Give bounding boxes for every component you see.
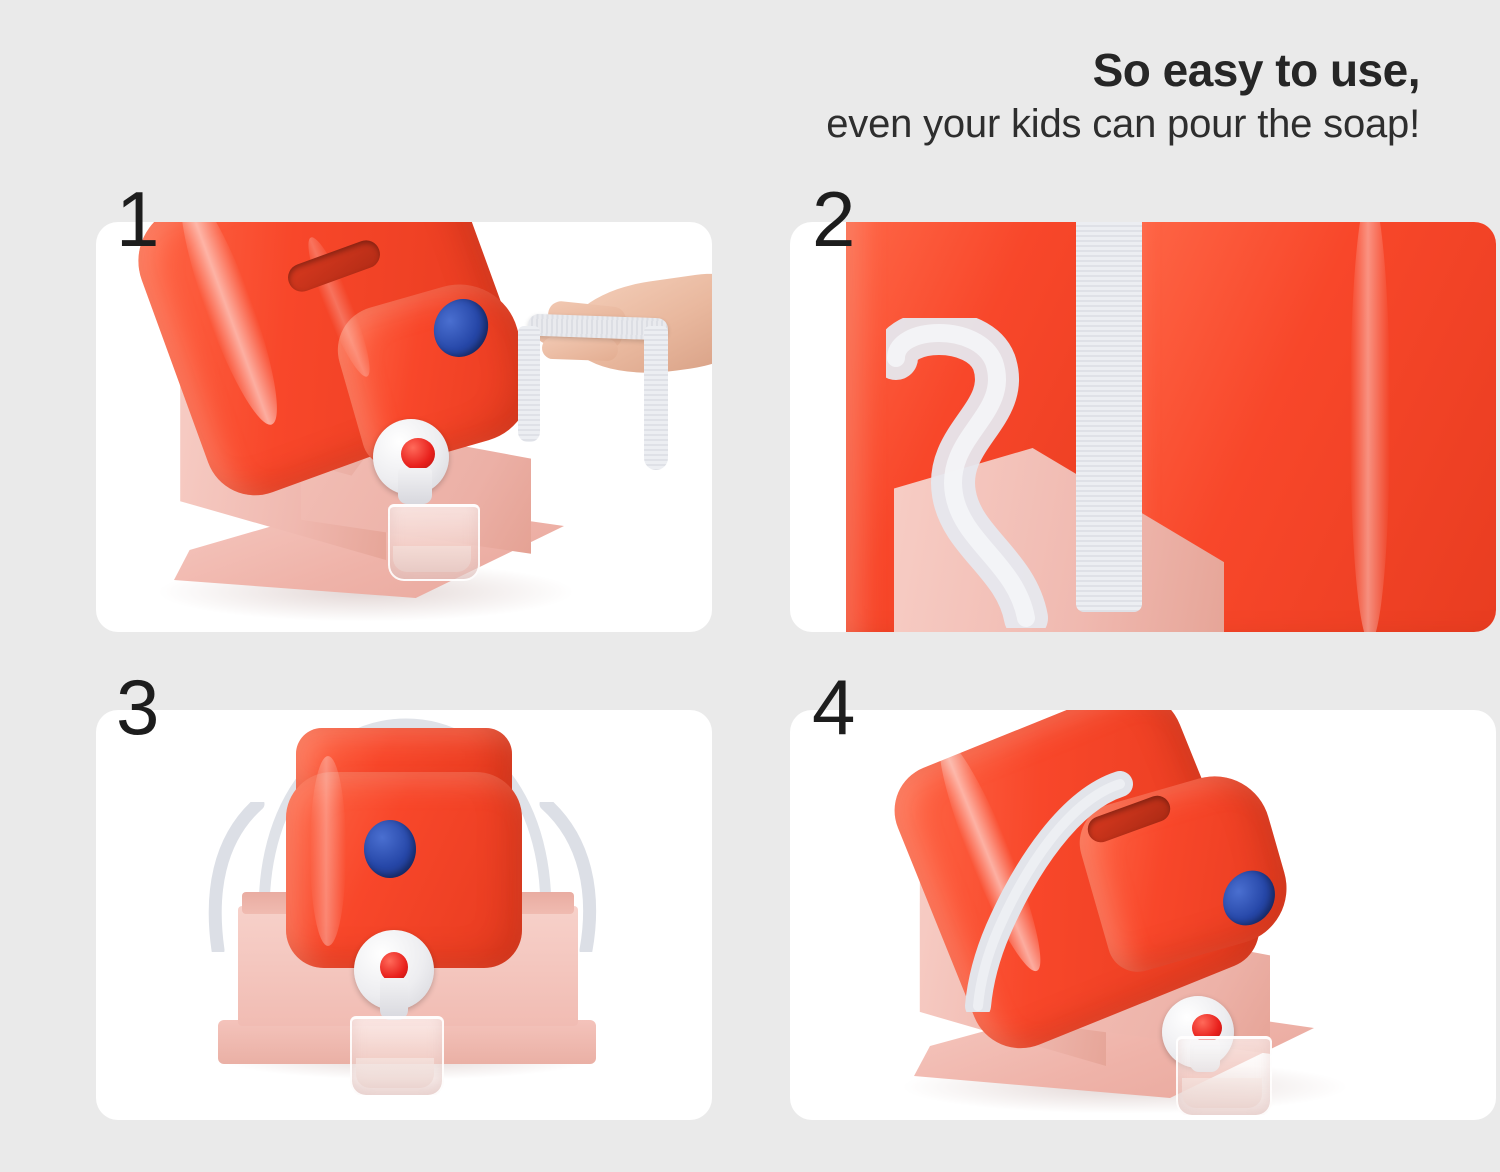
steps-grid [96, 222, 1400, 1120]
spigot-stem [380, 978, 408, 1020]
spigot-stem [398, 468, 432, 504]
velcro-strap-loop [886, 318, 1106, 628]
step-1-illustration [96, 222, 712, 632]
velcro-strap-left-leg [518, 326, 540, 442]
finger-ring [542, 337, 619, 362]
step-number-1: 1 [116, 180, 159, 258]
step-3-illustration [96, 710, 712, 1120]
step-panel-4 [790, 710, 1496, 1120]
velcro-strap-secured [950, 762, 1140, 1012]
step-2-illustration [790, 222, 1496, 632]
header: So easy to use, even your kids can pour … [520, 46, 1420, 146]
velcro-strap-right-leg [644, 326, 668, 470]
cup-liquid [393, 546, 471, 572]
page-subtitle: even your kids can pour the soap! [520, 102, 1420, 147]
step-number-2: 2 [812, 180, 855, 258]
step-number-4: 4 [812, 668, 855, 746]
cup-liquid [1182, 1078, 1262, 1108]
page-title: So easy to use, [520, 46, 1420, 96]
step-4-illustration [790, 710, 1496, 1120]
step-panel-2 [790, 222, 1496, 632]
step-panel-3 [96, 710, 712, 1120]
spigot-button[interactable] [401, 438, 435, 470]
strap-loop-svg [886, 318, 1106, 628]
step-number-3: 3 [116, 668, 159, 746]
step-panel-1 [96, 222, 712, 632]
strap-secured-svg [950, 762, 1140, 1012]
cup-liquid [356, 1058, 434, 1088]
blue-cap-icon [364, 820, 416, 878]
